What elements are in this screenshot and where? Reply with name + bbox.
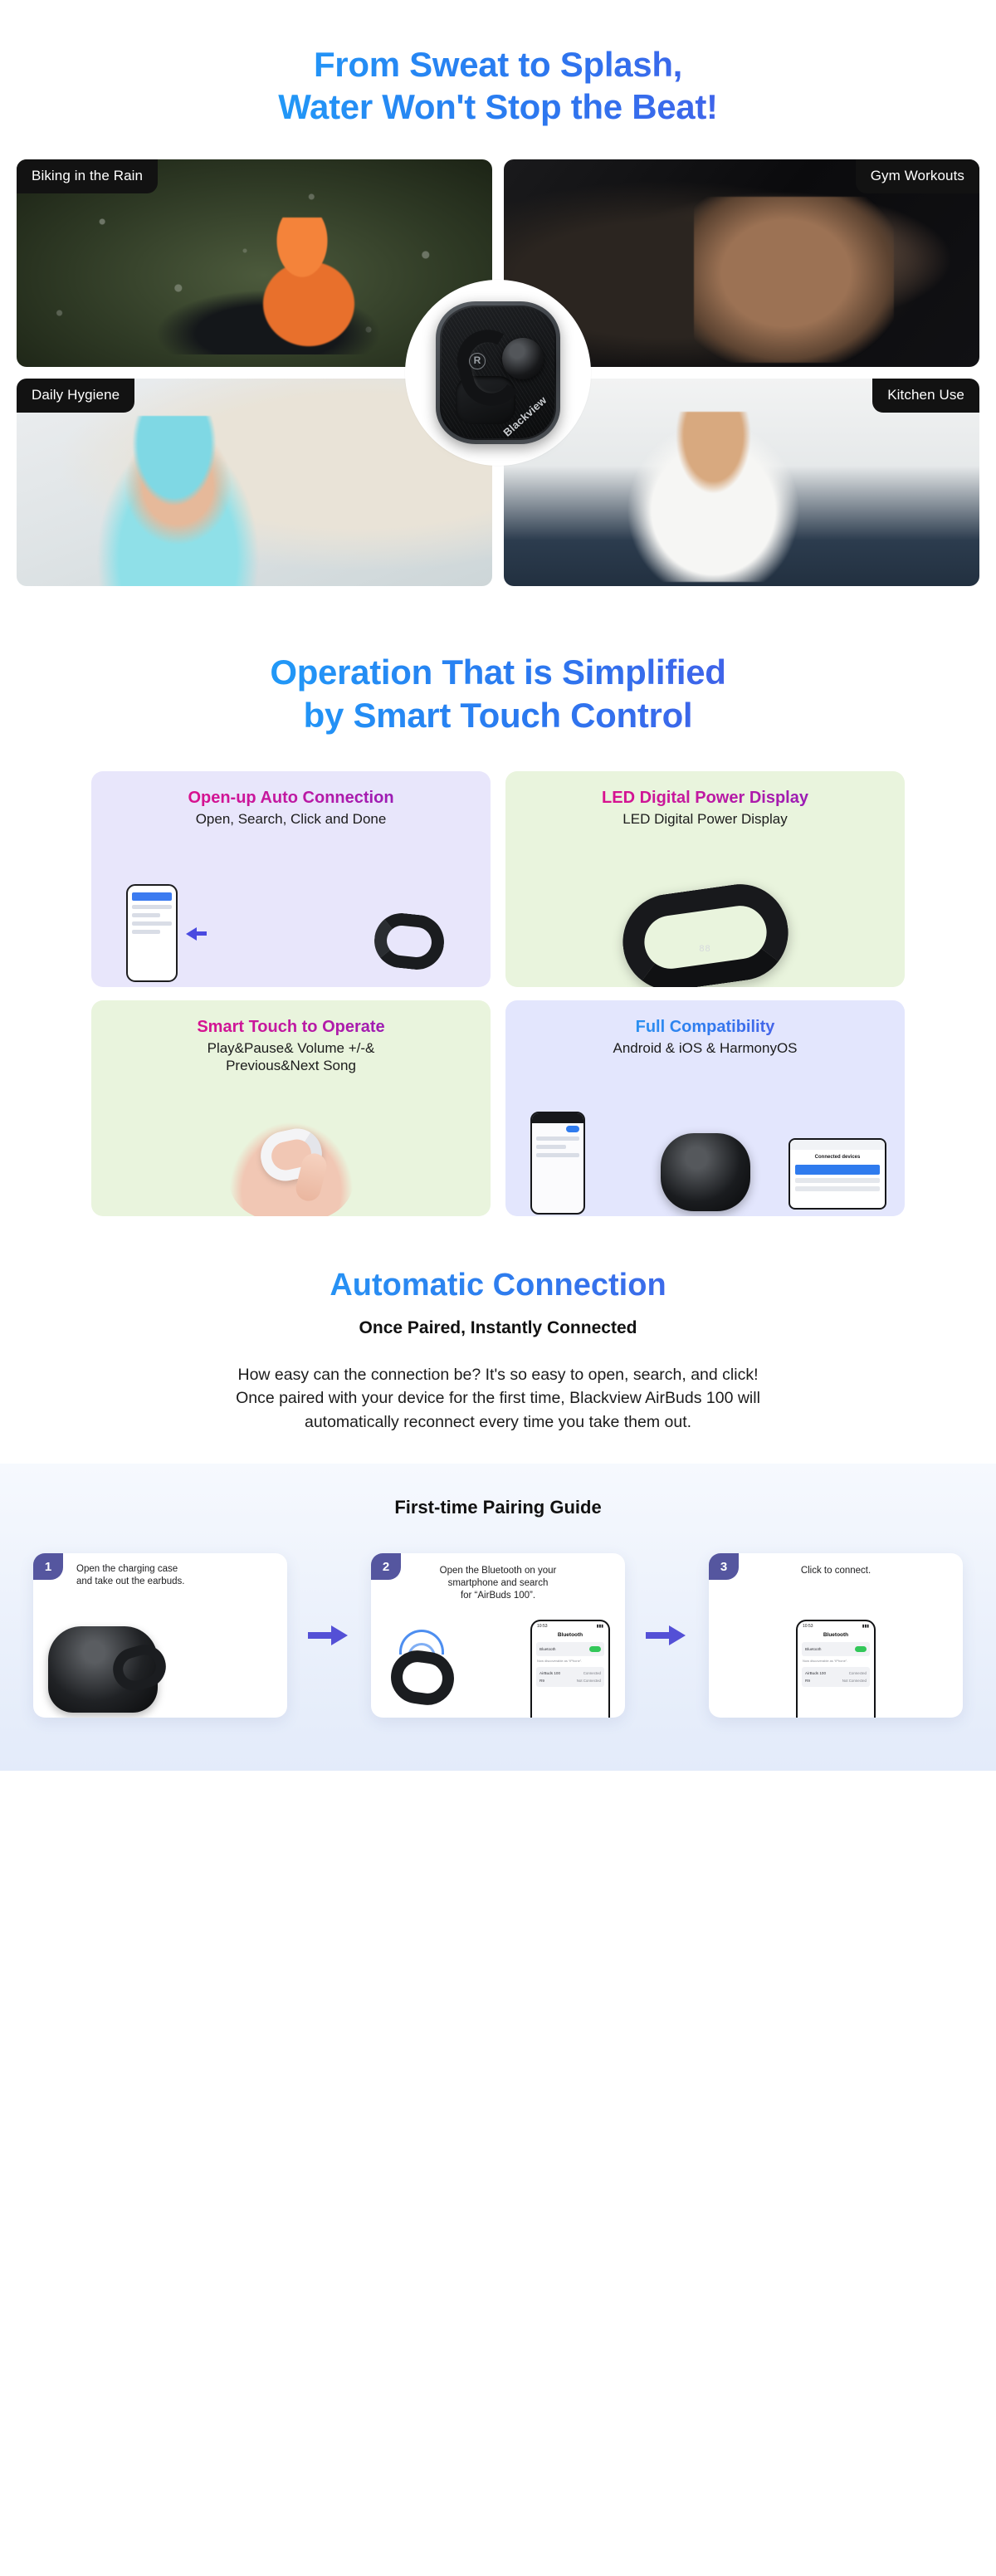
card-title: Full Compatibility [519, 1017, 891, 1037]
step-text-line-1: Click to connect. [801, 1566, 871, 1576]
pairing-step-1: 1 Open the charging case and take out th… [33, 1553, 287, 1718]
earbud-driver [502, 338, 544, 379]
device-list: AirBuds 100 Connected R9 Not Connected [536, 1667, 604, 1687]
step-text-line-2: and take out the earbuds. [76, 1576, 184, 1586]
card-subtitle: Play&Pause& Volume +/-& Previous&Next So… [105, 1039, 477, 1074]
device-name: AirBuds 100 [539, 1671, 560, 1675]
operation-headline: Operation That is Simplified by Smart To… [0, 651, 996, 736]
phone-status-bar: 10:53 ▮▮▮ [798, 1621, 874, 1629]
tile-label-hygiene: Daily Hygiene [17, 379, 134, 413]
device-row[interactable]: AirBuds 100 Connected [805, 1669, 867, 1677]
feature-card-led-display: LED Digital Power Display LED Digital Po… [505, 771, 905, 987]
phone-row [132, 921, 172, 926]
operation-section: Operation That is Simplified by Smart To… [0, 586, 996, 1215]
right-channel-mark: R [469, 353, 486, 369]
screen-title: Bluetooth [532, 1632, 608, 1638]
card-title: Smart Touch to Operate [105, 1017, 477, 1037]
phone-bluetooth-screen: 10:53 ▮▮▮ Bluetooth Bluetooth Now discov… [796, 1620, 876, 1718]
charging-case: R Blackview [436, 301, 560, 444]
bluetooth-toggle-row: Bluetooth [802, 1642, 870, 1656]
tablet-status-bar [790, 1140, 885, 1150]
device-row[interactable]: R9 Not Connected [539, 1677, 601, 1684]
phone-row [132, 930, 160, 934]
status-icons: ▮▮▮ [862, 1624, 869, 1629]
connection-arrow-stem [195, 931, 207, 936]
phone-status-bar: 10:53 ▮▮▮ [532, 1621, 608, 1629]
headline-line-1: From Sweat to Splash, [314, 45, 682, 84]
pairing-step-3: 3 Click to connect. 10:53 ▮▮▮ Bluetooth … [709, 1553, 963, 1718]
step-number-badge: 2 [371, 1553, 401, 1580]
phone-toggle [566, 1126, 579, 1132]
bluetooth-toggle[interactable] [589, 1646, 601, 1652]
step-arrow-icon [646, 1625, 689, 1646]
earbud-illustration [388, 1647, 457, 1708]
step-text: Open the charging case and take out the … [33, 1553, 287, 1588]
tile-label-kitchen: Kitchen Use [872, 379, 979, 413]
tablet-row [795, 1186, 880, 1191]
tile-label-biking: Biking in the Rain [17, 159, 158, 193]
pairing-guide-panel: First-time Pairing Guide 1 Open the char… [0, 1464, 996, 1771]
phone-bluetooth-screen: 10:53 ▮▮▮ Bluetooth Bluetooth Now discov… [530, 1620, 610, 1718]
step-text: Click to connect. [709, 1553, 963, 1577]
waterproof-section: From Sweat to Splash, Water Won't Stop t… [0, 0, 996, 586]
card-subtitle: Android & iOS & HarmonyOS [519, 1039, 891, 1057]
paragraph-line-2: Once paired with your device for the fir… [236, 1389, 760, 1407]
status-icons: ▮▮▮ [597, 1624, 603, 1629]
card-subtitle: Open, Search, Click and Done [105, 810, 477, 828]
card-illustration [91, 1092, 491, 1216]
phone-illustration [530, 1112, 585, 1215]
card-subtitle: LED Digital Power Display [519, 810, 891, 828]
hygiene-figure [83, 416, 273, 586]
device-status: Connected [849, 1671, 867, 1675]
device-row[interactable]: R9 Not Connected [805, 1677, 867, 1684]
phone-illustration [126, 884, 178, 982]
phone-row [536, 1145, 566, 1149]
device-name: R9 [539, 1679, 544, 1683]
card-title: LED Digital Power Display [519, 788, 891, 808]
device-status: Not Connected [842, 1679, 867, 1683]
card-illustration [91, 863, 491, 987]
lifestyle-image-grid: Biking in the Rain Gym Workouts Daily Hy… [17, 159, 979, 586]
device-name: R9 [805, 1679, 810, 1683]
screen-title: Bluetooth [798, 1632, 874, 1638]
op-headline-line-1: Operation That is Simplified [270, 653, 725, 692]
step-text-line-2: smartphone and search [448, 1578, 549, 1588]
paragraph-line-1: How easy can the connection be? It's so … [238, 1366, 759, 1384]
earbud-illustration [616, 878, 793, 987]
status-time: 10:53 [537, 1624, 548, 1629]
feature-card-auto-connection: Open-up Auto Connection Open, Search, Cl… [91, 771, 491, 987]
device-row[interactable]: AirBuds 100 Connected [539, 1669, 601, 1677]
cyclist-figure [236, 218, 402, 367]
bluetooth-label: Bluetooth [539, 1647, 555, 1651]
phone-header-bar [132, 892, 172, 901]
status-time: 10:53 [803, 1624, 813, 1629]
step-number-badge: 3 [709, 1553, 739, 1580]
card-illustration: 88 [505, 863, 905, 987]
waterproof-headline: From Sweat to Splash, Water Won't Stop t… [0, 43, 996, 128]
auto-connection-paragraph: How easy can the connection be? It's so … [83, 1363, 913, 1434]
step-arrow-icon [308, 1625, 351, 1646]
pairing-guide-title: First-time Pairing Guide [0, 1497, 996, 1518]
feature-card-compatibility: Full Compatibility Android & iOS & Harmo… [505, 1000, 905, 1216]
step-illustration: 10:53 ▮▮▮ Bluetooth Bluetooth Now discov… [709, 1615, 963, 1718]
headline-line-2: Water Won't Stop the Beat! [278, 87, 718, 126]
feature-card-grid: Open-up Auto Connection Open, Search, Cl… [91, 771, 905, 1216]
pairing-steps: 1 Open the charging case and take out th… [33, 1553, 963, 1718]
athlete-figure [694, 197, 894, 363]
paragraph-line-3: automatically reconnect every time you t… [305, 1413, 691, 1431]
connection-arrow-icon [186, 927, 197, 941]
bluetooth-label: Bluetooth [805, 1647, 821, 1651]
phone-row [132, 905, 172, 909]
earbud-illustration [372, 911, 447, 972]
card-subtitle-line-2: Previous&Next Song [226, 1058, 356, 1073]
card-title: Open-up Auto Connection [105, 788, 477, 808]
step-text-line-3: for “AirBuds 100”. [461, 1591, 535, 1601]
bluetooth-toggle[interactable] [855, 1646, 867, 1652]
phone-row [536, 1136, 579, 1141]
bluetooth-toggle-row: Bluetooth [536, 1642, 604, 1656]
op-headline-line-2: by Smart Touch Control [304, 696, 693, 735]
discoverable-note: Now discoverable as “iPhone”. [537, 1659, 603, 1663]
step-number-badge: 1 [33, 1553, 63, 1580]
step-text-line-1: Open the charging case [76, 1564, 178, 1574]
bluetooth-row[interactable]: Bluetooth [805, 1645, 867, 1654]
step-text: Open the Bluetooth on your smartphone an… [371, 1553, 625, 1602]
device-status: Connected [583, 1671, 601, 1675]
device-status: Not Connected [577, 1679, 601, 1683]
phone-row [132, 913, 160, 917]
tablet-highlight-row [795, 1165, 880, 1175]
feature-card-smart-touch: Smart Touch to Operate Play&Pause& Volum… [91, 1000, 491, 1216]
tablet-row [795, 1178, 880, 1183]
device-name: AirBuds 100 [805, 1671, 826, 1675]
auto-connection-subhead: Once Paired, Instantly Connected [0, 1318, 996, 1338]
device-list: AirBuds 100 Connected R9 Not Connected [802, 1667, 870, 1687]
kitchen-figure [618, 412, 808, 582]
step-illustration [33, 1615, 287, 1718]
phone-status-bar [532, 1113, 583, 1123]
charging-case-illustration [661, 1133, 750, 1211]
card-subtitle-line-1: Play&Pause& Volume +/-& [207, 1040, 375, 1056]
step-text-line-1: Open the Bluetooth on your [440, 1566, 557, 1576]
card-illustration: Connected devices [505, 1092, 905, 1216]
tablet-illustration: Connected devices [788, 1138, 886, 1210]
step-illustration: 10:53 ▮▮▮ Bluetooth Bluetooth Now discov… [371, 1615, 625, 1718]
discoverable-note: Now discoverable as “iPhone”. [803, 1659, 869, 1663]
bluetooth-row[interactable]: Bluetooth [539, 1645, 601, 1654]
tablet-screen-title: Connected devices [790, 1155, 885, 1160]
pairing-step-2: 2 Open the Bluetooth on your smartphone … [371, 1553, 625, 1718]
product-hero-circle: R Blackview [405, 280, 591, 466]
automatic-connection-section: Automatic Connection Once Paired, Instan… [0, 1216, 996, 1771]
phone-row [536, 1153, 579, 1157]
led-power-value: 88 [699, 944, 710, 954]
auto-connection-headline: Automatic Connection [0, 1268, 996, 1303]
tile-label-gym: Gym Workouts [856, 159, 979, 193]
